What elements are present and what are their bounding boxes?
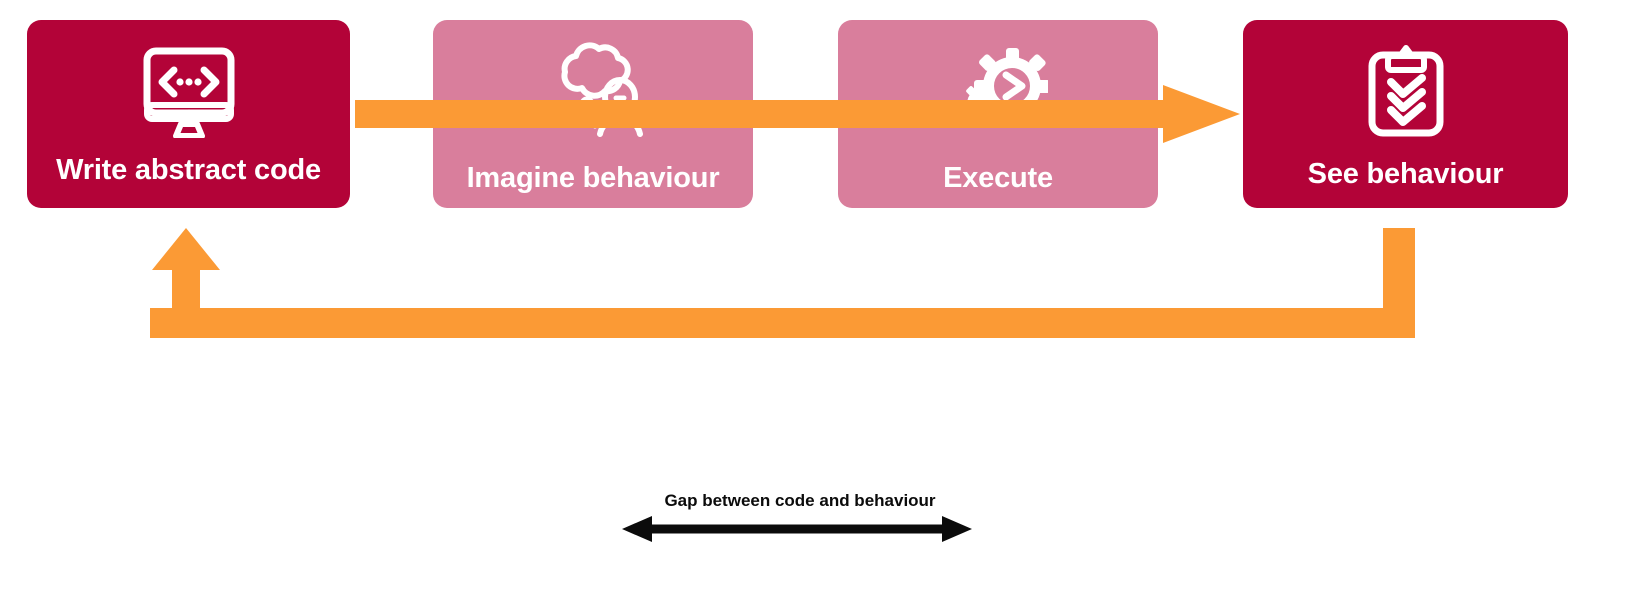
gears-play-icon	[948, 42, 1048, 140]
step-box-write-abstract-code[interactable]: Write abstract code	[27, 20, 350, 208]
clipboard-checks-icon	[1362, 44, 1450, 138]
monitor-code-icon	[141, 46, 237, 138]
step-label-write-abstract-code: Write abstract code	[56, 156, 321, 185]
step-box-see-behaviour[interactable]: See behaviour	[1243, 20, 1568, 208]
step-label-imagine-behaviour: Imagine behaviour	[467, 164, 720, 193]
step-box-imagine-behaviour[interactable]: Imagine behaviour	[433, 20, 753, 208]
gap-double-headed-arrow	[622, 514, 972, 544]
step-box-execute[interactable]: Execute	[838, 20, 1158, 208]
gap-annotation-label: Gap between code and behaviour	[600, 492, 1000, 509]
step-label-see-behaviour: See behaviour	[1308, 160, 1504, 189]
step-label-execute: Execute	[943, 164, 1053, 193]
diagram-canvas: Write abstract code Imagine behaviour	[0, 0, 1647, 591]
gap-annotation: Gap between code and behaviour	[600, 492, 1000, 552]
feedback-loop-arrow	[150, 228, 1415, 338]
thought-cloud-person-icon	[543, 42, 643, 140]
